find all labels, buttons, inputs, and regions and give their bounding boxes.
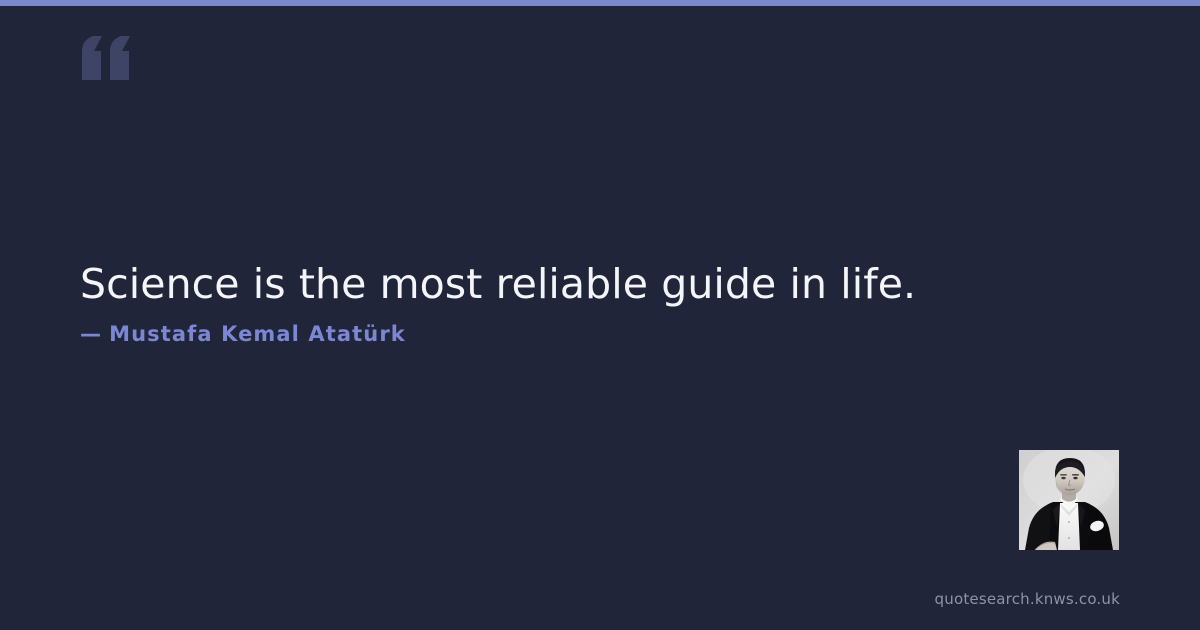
attribution-dash: — bbox=[80, 322, 102, 346]
source-url: quotesearch.knws.co.uk bbox=[935, 590, 1120, 608]
quote-card: Science is the most reliable guide in li… bbox=[0, 0, 1200, 630]
top-accent-bar bbox=[0, 0, 1200, 6]
double-quote-icon bbox=[80, 34, 134, 80]
quote-text: Science is the most reliable guide in li… bbox=[80, 258, 1080, 310]
attribution-author-name: Mustafa Kemal Atatürk bbox=[109, 322, 406, 346]
author-portrait bbox=[1019, 450, 1119, 550]
quote-attribution: —Mustafa Kemal Atatürk bbox=[80, 322, 406, 346]
